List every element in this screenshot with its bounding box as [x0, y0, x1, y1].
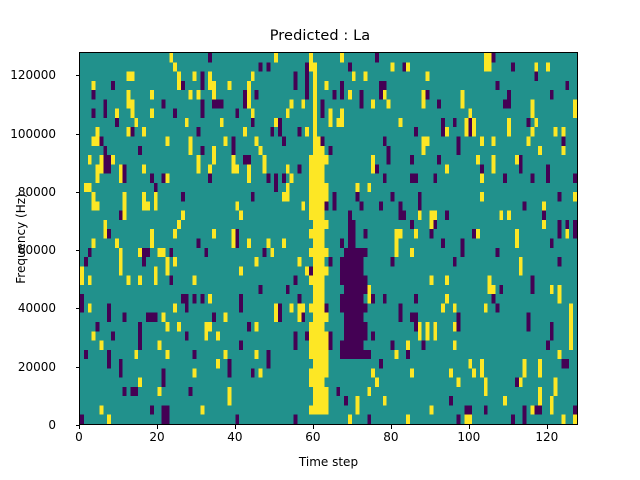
x-tick-label: 120: [507, 431, 587, 443]
matplotlib-figure: Predicted : La Frequency (Hz) 0200004000…: [0, 0, 640, 480]
x-tick-label: 80: [351, 431, 431, 443]
x-tick-mark: [391, 425, 392, 429]
y-tick-label: 60000: [0, 244, 56, 256]
y-tick-label: 0: [0, 419, 56, 431]
x-tick-label: 60: [273, 431, 353, 443]
y-tick-label: 120000: [0, 69, 56, 81]
x-tick-mark: [313, 425, 314, 429]
x-axis-label: Time step: [79, 455, 578, 469]
x-tick-label: 20: [117, 431, 197, 443]
x-tick-mark: [469, 425, 470, 429]
y-tick-label: 20000: [0, 361, 56, 373]
x-tick-mark: [235, 425, 236, 429]
y-tick-label: 100000: [0, 128, 56, 140]
page-title: Predicted : La: [0, 28, 640, 44]
x-tick-label: 100: [429, 431, 509, 443]
x-tick-label: 0: [39, 431, 119, 443]
x-tick-mark: [547, 425, 548, 429]
y-tick-label: 80000: [0, 186, 56, 198]
x-tick-label: 40: [195, 431, 275, 443]
y-tick-label: 40000: [0, 302, 56, 314]
heatmap-canvas: [80, 53, 577, 424]
heatmap-plot-area: [79, 52, 578, 425]
x-tick-mark: [157, 425, 158, 429]
x-tick-mark: [79, 425, 80, 429]
